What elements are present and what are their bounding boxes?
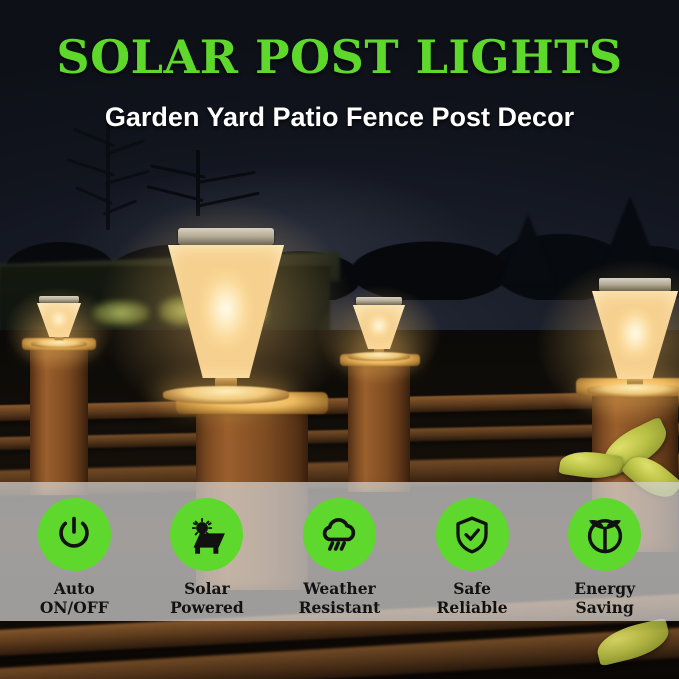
leaf-plant-icon (583, 513, 627, 557)
shield-check-icon (451, 514, 493, 556)
house-window (92, 300, 150, 326)
feature-icon-circle (436, 498, 509, 571)
page-subtitle: Garden Yard Patio Fence Post Decor (0, 101, 679, 133)
feature-band: Auto ON/OFF (0, 482, 679, 621)
fence-post-mid-right (348, 362, 410, 492)
power-icon (53, 514, 95, 556)
page-title: SOLAR POST LIGHTS (0, 33, 679, 81)
solar-panel-top (39, 296, 79, 303)
feature-label: Auto ON/OFF (40, 579, 109, 617)
feature-label: Solar Powered (170, 579, 244, 617)
feature-auto-on-off: Auto ON/OFF (8, 498, 141, 617)
lamp-inner-glow (49, 309, 69, 329)
solar-post-light-center (160, 228, 292, 396)
solar-post-light-mid-right (348, 297, 410, 359)
feature-safe-reliable: Safe Reliable (406, 498, 539, 617)
lamp-base-plate (31, 340, 87, 348)
glass-shade (168, 245, 284, 378)
feature-icon-circle (38, 498, 111, 571)
lamp-inner-glow (367, 313, 391, 339)
feature-label: Weather Resistant (299, 579, 381, 617)
glass-shade (37, 303, 81, 337)
feature-icon-circle (568, 498, 641, 571)
solar-panel-icon (185, 513, 229, 557)
feature-solar-powered: Solar Powered (141, 498, 274, 617)
solar-panel-top (356, 297, 402, 305)
solar-panel-top (599, 278, 671, 291)
lamp-inner-glow (199, 269, 252, 349)
rain-cloud-icon (317, 513, 361, 557)
conifer-tree-right (596, 196, 664, 282)
glass-shade (592, 291, 678, 379)
lamp-inner-glow (615, 307, 655, 360)
feature-weather-resistant: Weather Resistant (273, 498, 406, 617)
solar-post-light-right (586, 278, 679, 390)
product-marketing-image: SOLAR POST LIGHTS Garden Yard Patio Fenc… (0, 0, 679, 679)
solar-post-light-left (30, 296, 88, 344)
lamp-base-plate (587, 384, 679, 397)
feature-icon-circle (303, 498, 376, 571)
conifer-tree-mid (500, 214, 556, 284)
feature-label: Safe Reliable (437, 579, 508, 617)
solar-panel-top (178, 228, 274, 245)
lamp-base-plate (163, 386, 289, 404)
feature-icon-circle (170, 498, 243, 571)
feature-label: Energy Saving (574, 579, 635, 617)
lamp-base-plate (348, 352, 410, 361)
glass-shade (353, 305, 405, 349)
feature-energy-saving: Energy Saving (538, 498, 671, 617)
fence-post-left (30, 345, 88, 495)
